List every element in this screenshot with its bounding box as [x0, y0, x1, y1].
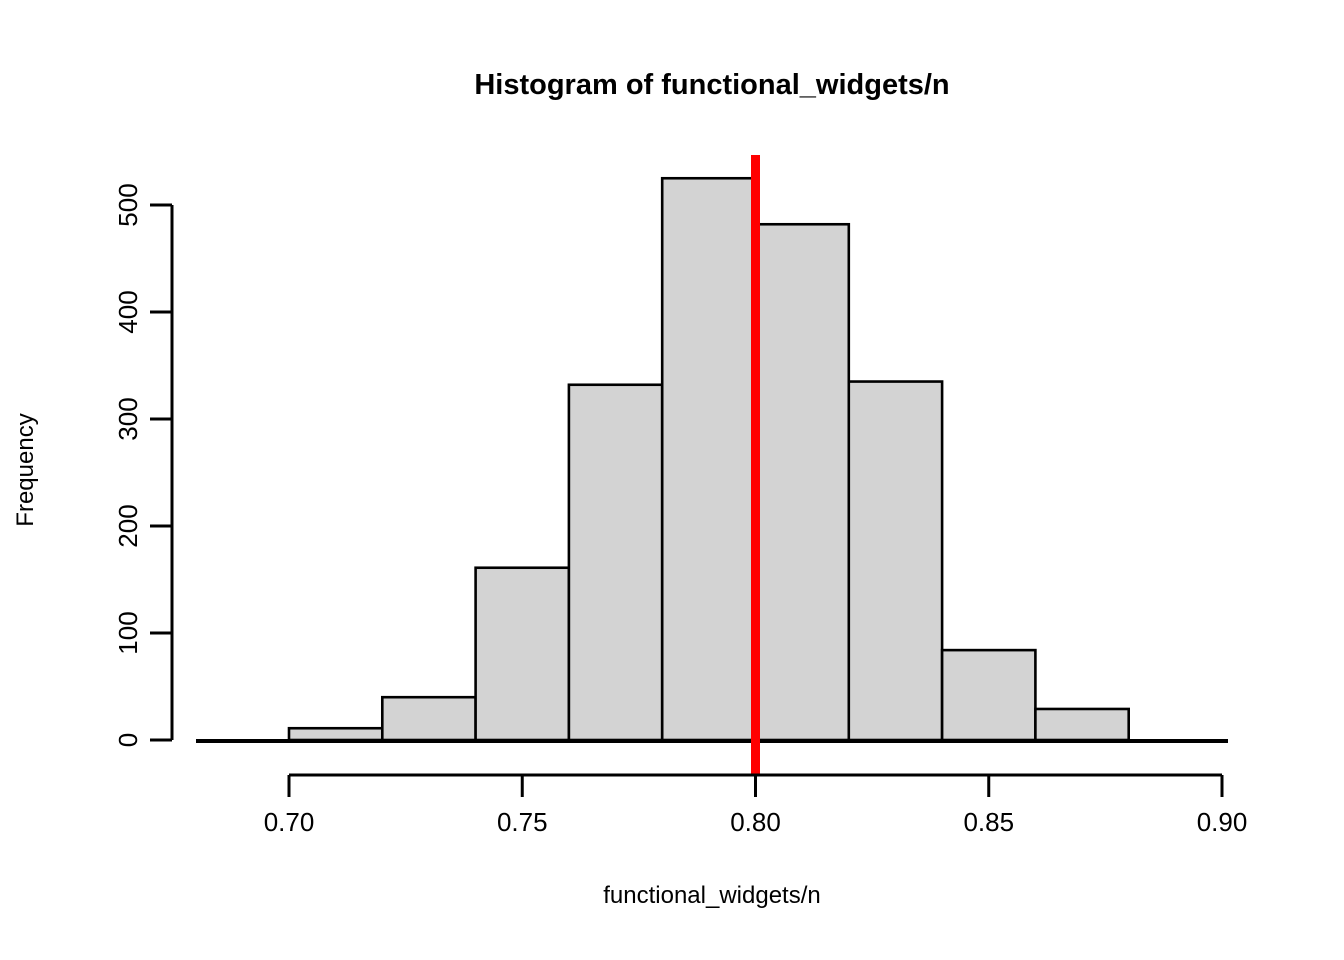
- y-axis-label: Frequency: [12, 413, 39, 526]
- x-tick-label: 0.70: [264, 807, 315, 837]
- x-tick-label: 0.75: [497, 807, 548, 837]
- plot-canvas: Histogram of functional_widgets/n Freque…: [0, 0, 1344, 960]
- histogram-bar: [382, 697, 475, 740]
- histogram-bar: [662, 178, 755, 740]
- histogram-bar: [756, 224, 849, 740]
- page-title: Histogram of functional_widgets/n: [474, 69, 949, 101]
- y-tick-label: 0: [113, 733, 143, 747]
- histogram-bar: [476, 568, 569, 740]
- x-tick-label: 0.80: [730, 807, 781, 837]
- histogram-bar: [942, 650, 1035, 740]
- x-axis-label: functional_widgets/n: [603, 882, 820, 909]
- histogram-bar: [289, 728, 382, 740]
- y-tick-label: 500: [113, 183, 143, 226]
- x-tick-label: 0.90: [1197, 807, 1248, 837]
- histogram-bar: [849, 382, 942, 740]
- y-tick-label: 300: [113, 397, 143, 440]
- x-tick-label: 0.85: [963, 807, 1014, 837]
- y-tick-label: 100: [113, 611, 143, 654]
- histogram-plot: Histogram of functional_widgets/n Freque…: [0, 0, 1344, 960]
- histogram-bar: [1035, 709, 1128, 740]
- y-tick-label: 400: [113, 290, 143, 333]
- y-tick-label: 200: [113, 504, 143, 547]
- histogram-bar: [569, 385, 662, 740]
